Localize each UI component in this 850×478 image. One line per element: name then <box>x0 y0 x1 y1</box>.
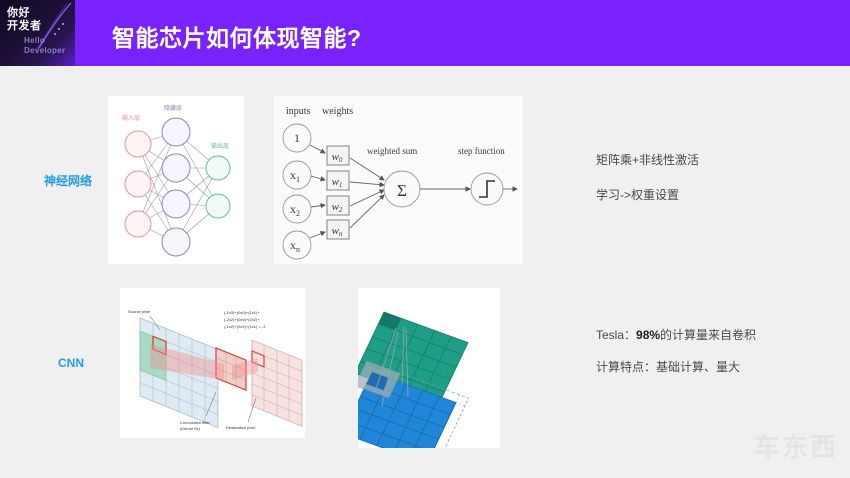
note-cnn-1-suffix: 的计算量来自卷积 <box>660 328 756 342</box>
conv-filter-label: Convolution filter <box>180 420 210 425</box>
logo-line-2: 开发者 <box>7 20 42 33</box>
brand-logo: 你好 开发者 Hello Developer <box>0 0 75 66</box>
slide-root: 你好 开发者 Hello Developer 智能芯片如何体现智能? 神经网络 <box>0 0 850 478</box>
slide-header: 你好 开发者 Hello Developer 智能芯片如何体现智能? <box>0 0 850 66</box>
conv-dest-pixel-label: Destination pixel <box>226 425 255 430</box>
note-cnn-1: Tesla：98%的计算量来自卷积 <box>596 326 756 343</box>
figure-convolution-filter-diagram: Source pixel Convolution filter (Kernel … <box>120 288 305 438</box>
perceptron-weights-label: weights <box>322 106 353 117</box>
row-label-neural-network: 神经网络 <box>44 172 92 189</box>
logo-chinese-text: 你好 开发者 <box>7 7 42 33</box>
note-cnn-2: 计算特点：基础计算、量大 <box>596 358 740 375</box>
note-nn-1: 矩阵乘+非线性激活 <box>596 151 699 168</box>
note-cnn-1-prefix: Tesla： <box>596 328 636 342</box>
note-cnn-1-strong: 98% <box>636 328 660 342</box>
svg-text:1: 1 <box>294 131 300 145</box>
logo-en-1: Hello <box>24 36 65 46</box>
row-label-cnn: CNN <box>58 356 84 370</box>
conv-source-pixel-label: Source pixel <box>128 309 150 314</box>
conv-formula-line-1: (-1x3)+(0x0)+(1x1)+ <box>224 310 260 315</box>
figure-perceptron-diagram: inputs weights weighted sum step functio… <box>274 96 523 264</box>
conv-formula-line-3: (-1x2)+(0x4)+(1x1) = -3 <box>224 324 266 329</box>
logo-en-2: Developer <box>24 46 65 56</box>
page-title: 智能芯片如何体现智能? <box>112 19 362 53</box>
note-nn-2: 学习->权重设置 <box>596 186 679 203</box>
nn-output-layer-label: 输出层 <box>211 142 229 150</box>
conv-formula-line-2: (-2x2)+(0x6)+(2x2)+ <box>224 317 260 322</box>
figure-neural-network-layers: 输入层 隐藏层 输出层 <box>108 96 244 264</box>
logo-line-1: 你好 <box>7 7 42 20</box>
perceptron-sum-symbol: Σ <box>397 181 407 200</box>
figure-convolution-animation-diagram <box>358 288 500 448</box>
nn-hidden-layer-label: 隐藏层 <box>164 104 182 112</box>
perceptron-weighted-sum-label: weighted sum <box>367 146 417 156</box>
perceptron-inputs-label: inputs <box>286 106 311 117</box>
logo-english-text: Hello Developer <box>24 36 65 56</box>
conv-filter-label-2: (Kernel Sz) <box>180 426 201 431</box>
watermark: 车东西 <box>754 427 838 464</box>
perceptron-step-function-label: step function <box>458 146 505 156</box>
nn-input-layer-label: 输入层 <box>122 114 140 122</box>
